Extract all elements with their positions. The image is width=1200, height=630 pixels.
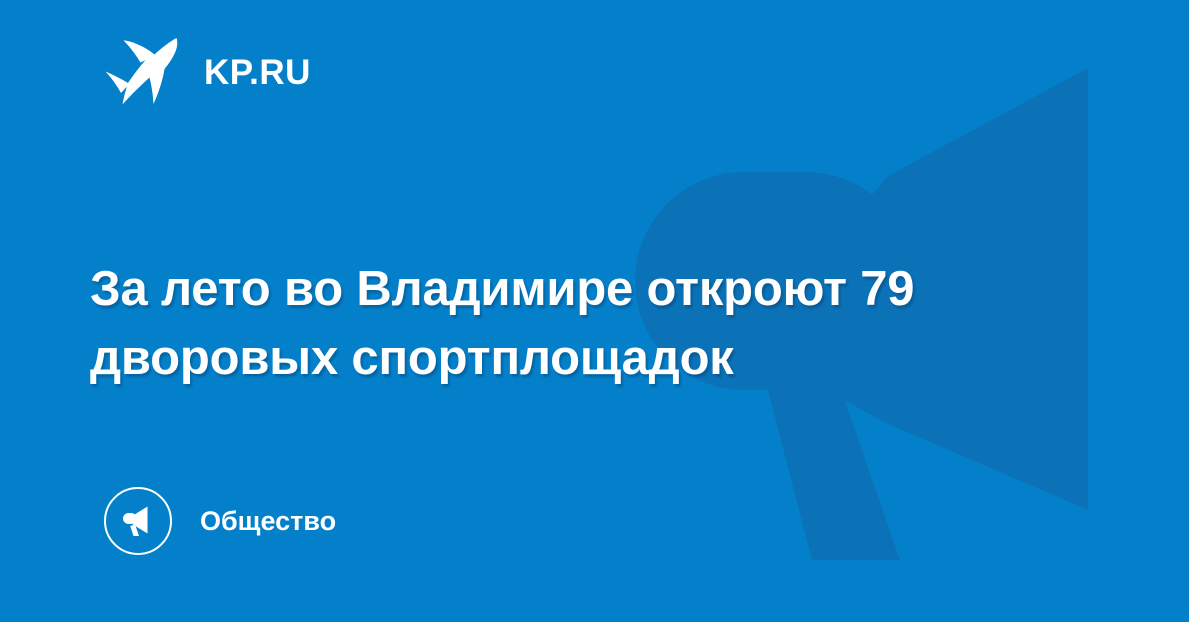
rubric[interactable]: Общество — [104, 487, 336, 555]
swallow-bird-icon — [104, 36, 182, 108]
card-canvas: KP.RU За лето во Владимире откроют 79 дв… — [0, 0, 1189, 622]
brand-wordmark: KP.RU — [204, 55, 311, 90]
rubric-badge — [104, 487, 172, 555]
page-title: За лето во Владимире откроют 79 дворовых… — [90, 255, 1090, 393]
share-card: KP.RU За лето во Владимире откроют 79 дв… — [0, 0, 1200, 630]
brand-logo[interactable]: KP.RU — [104, 36, 311, 108]
rubric-label: Общество — [200, 508, 336, 535]
megaphone-icon — [118, 501, 158, 541]
